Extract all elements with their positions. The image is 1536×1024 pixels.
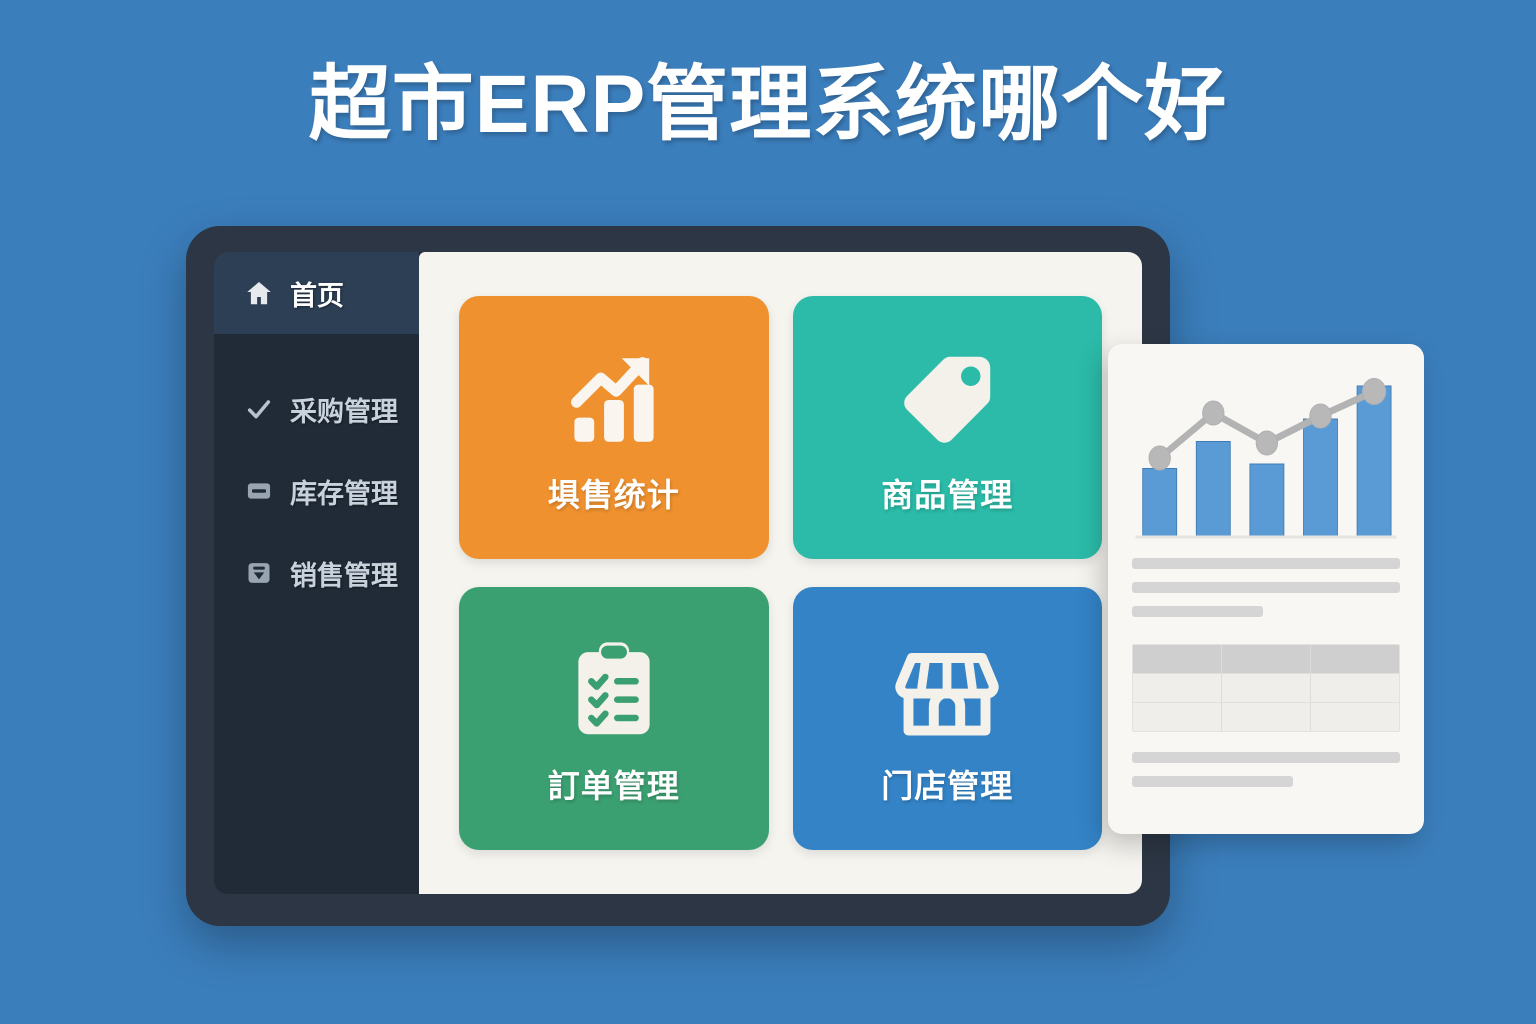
card-store-management[interactable]: 门店管理 bbox=[793, 587, 1103, 850]
sidebar-item-label: 采购管理 bbox=[290, 390, 398, 429]
box-down-icon bbox=[244, 558, 274, 588]
card-label: 商品管理 bbox=[881, 470, 1013, 516]
check-icon bbox=[244, 394, 274, 424]
card-order-management[interactable]: 訂单管理 bbox=[459, 587, 769, 850]
skeleton-table bbox=[1132, 644, 1400, 732]
card-product-management[interactable]: 商品管理 bbox=[793, 296, 1103, 559]
sidebar-item-home[interactable]: 首页 bbox=[214, 252, 419, 334]
table-header-cell bbox=[1311, 645, 1399, 673]
home-icon bbox=[244, 278, 274, 308]
clipboard-check-icon bbox=[550, 631, 678, 751]
table-header-cell bbox=[1222, 645, 1311, 673]
dashboard-card-grid: 埧售统计 商品管理 bbox=[419, 252, 1142, 894]
sidebar-item-inventory[interactable]: 库存管理 bbox=[214, 456, 419, 526]
price-tag-icon bbox=[883, 340, 1011, 460]
table-row bbox=[1133, 673, 1399, 702]
tablet-device-frame: 首页 采购管理 库存管理 bbox=[186, 226, 1170, 926]
chart-markers bbox=[1149, 379, 1386, 471]
sidebar-gap bbox=[214, 526, 419, 538]
card-label: 门店管理 bbox=[881, 761, 1013, 807]
skeleton-text-line bbox=[1132, 606, 1263, 617]
sidebar-item-purchasing[interactable]: 采购管理 bbox=[214, 374, 419, 444]
storefront-icon bbox=[883, 631, 1011, 751]
skeleton-text-line bbox=[1132, 558, 1400, 569]
bar-chart-arrow-icon bbox=[550, 340, 678, 460]
table-cell bbox=[1311, 674, 1399, 702]
sidebar-item-label: 销售管理 bbox=[290, 554, 398, 593]
sidebar-item-sales[interactable]: 销售管理 bbox=[214, 538, 419, 608]
skeleton-text-line bbox=[1132, 582, 1400, 593]
table-row bbox=[1133, 702, 1399, 731]
table-cell bbox=[1133, 674, 1222, 702]
card-label: 埧售统计 bbox=[548, 470, 680, 516]
report-chart bbox=[1132, 366, 1400, 552]
chart-svg bbox=[1132, 366, 1400, 552]
table-cell bbox=[1311, 703, 1399, 731]
sidebar-item-label: 首页 bbox=[290, 274, 344, 313]
report-document-panel bbox=[1108, 344, 1424, 834]
sidebar-gap bbox=[214, 444, 419, 456]
page-title: 超市ERP管理系统哪个好 bbox=[0, 58, 1536, 152]
table-cell bbox=[1133, 703, 1222, 731]
sidebar-item-label: 库存管理 bbox=[290, 472, 398, 511]
card-label: 訂单管理 bbox=[548, 761, 680, 807]
tablet-screen: 首页 采购管理 库存管理 bbox=[214, 252, 1142, 894]
table-header-row bbox=[1133, 645, 1399, 673]
chart-bars bbox=[1143, 386, 1391, 536]
table-header-cell bbox=[1133, 645, 1222, 673]
card-sales-statistics[interactable]: 埧售统计 bbox=[459, 296, 769, 559]
sidebar: 首页 采购管理 库存管理 bbox=[214, 252, 419, 894]
table-cell bbox=[1222, 703, 1311, 731]
inbox-icon bbox=[244, 476, 274, 506]
sidebar-spacer bbox=[214, 334, 419, 374]
skeleton-text-line bbox=[1132, 776, 1293, 787]
table-cell bbox=[1222, 674, 1311, 702]
skeleton-text-line bbox=[1132, 752, 1400, 763]
